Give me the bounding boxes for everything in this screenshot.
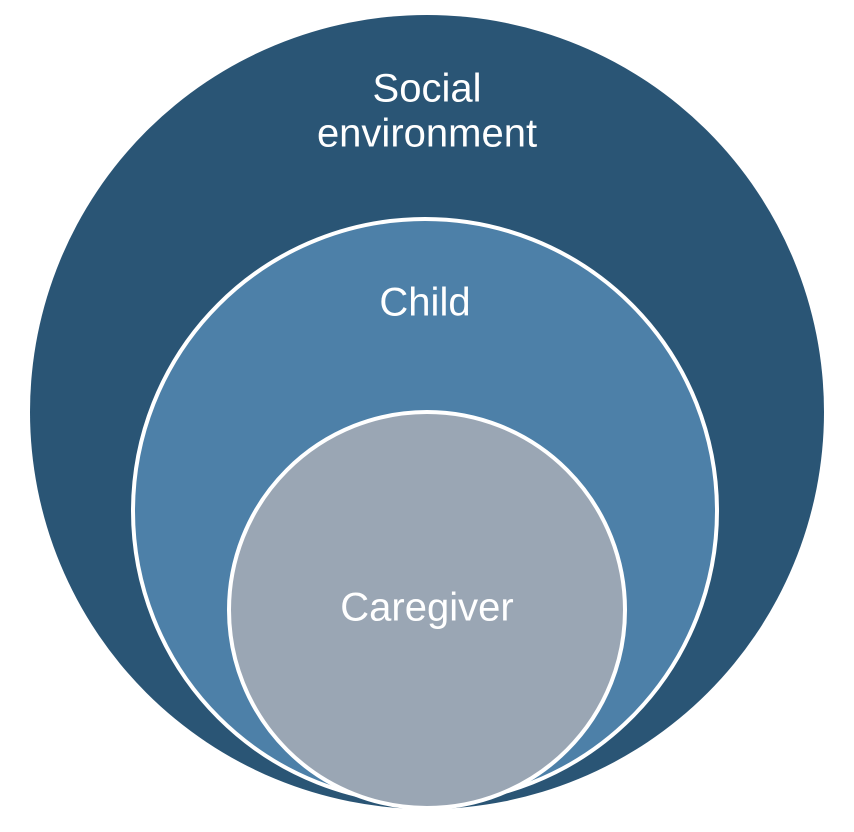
nested-circles-diagram: Social environment Child Caregiver	[0, 0, 854, 832]
label-caregiver: Caregiver	[340, 586, 513, 630]
label-social-environment-line2: environment	[317, 112, 537, 156]
label-child: Child	[379, 281, 470, 325]
diagram-canvas: Social environment Child Caregiver	[0, 0, 854, 832]
label-social-environment-line1: Social	[373, 67, 482, 111]
